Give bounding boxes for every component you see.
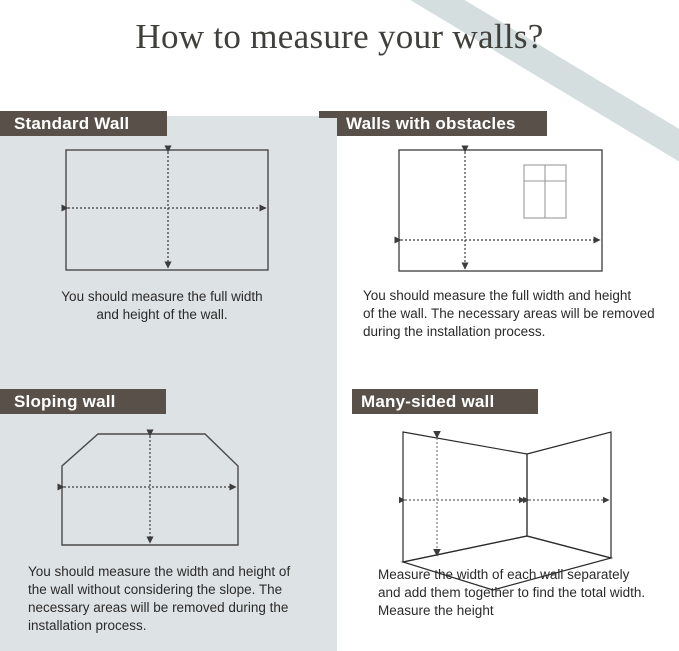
- caption-standard-wall: You should measure the full width and he…: [24, 288, 300, 324]
- caption-many-sided-wall: Measure the width of each wall separatel…: [378, 566, 668, 620]
- page-title: How to measure your walls?: [0, 17, 679, 57]
- section-header-tab-obstacles: [319, 111, 339, 118]
- diagram-many-sided-wall: [375, 410, 635, 570]
- section-header-walls-with-obstacles: Walls with obstacles: [337, 111, 547, 136]
- diagram-standard-wall: [40, 138, 290, 278]
- diagram-sloping-wall: [20, 412, 280, 557]
- diagram-walls-with-obstacles: [383, 138, 623, 278]
- caption-walls-with-obstacles: You should measure the full width and he…: [363, 287, 663, 341]
- section-header-standard-wall: Standard Wall: [0, 111, 167, 136]
- caption-sloping-wall: You should measure the width and height …: [28, 563, 306, 635]
- poster-root: How to measure your walls? Standard Wall…: [0, 0, 679, 651]
- section-header-sloping-wall: Sloping wall: [0, 389, 166, 414]
- window-obstacle: [524, 165, 566, 218]
